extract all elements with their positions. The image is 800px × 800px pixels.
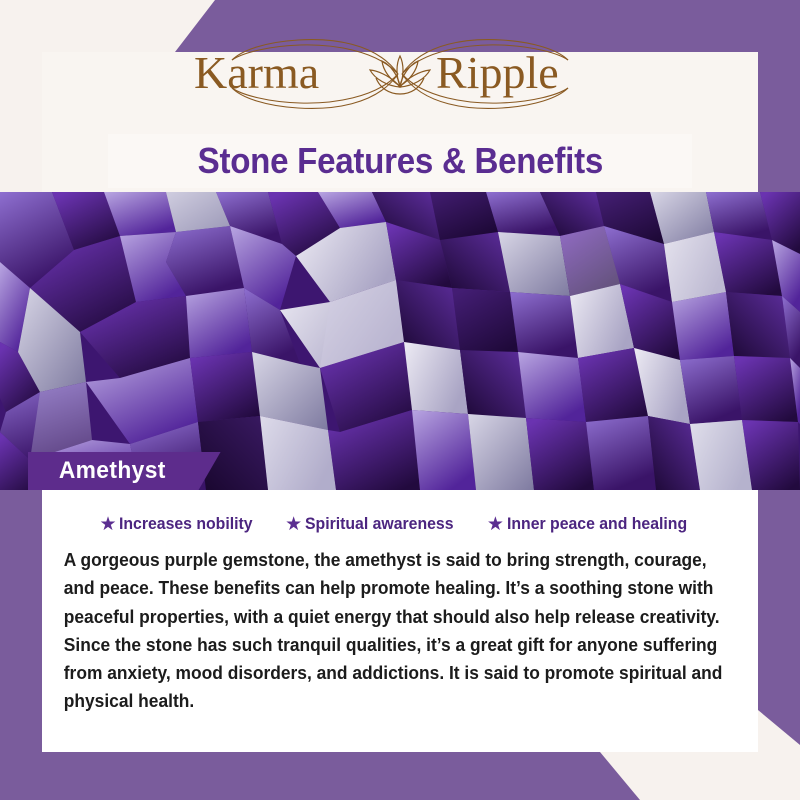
benefit-item: ★ Inner peace and healing [487,514,701,534]
stone-name-tag: Amethyst [28,452,221,490]
frame-bottom-band [0,752,800,800]
star-icon: ★ [487,515,504,534]
brand-logo: Karma Ripple [0,26,800,122]
logo-artwork: Karma Ripple [180,26,620,122]
gemstone-photo-art [0,192,800,490]
page-title: Stone Features & Benefits [197,140,602,182]
star-icon: ★ [285,515,302,534]
benefit-item: ★ Increases nobility [99,514,263,534]
benefits-list: ★ Increases nobility ★ Spiritual awarene… [60,514,740,534]
brand-name-right: Ripple [436,47,559,98]
gemstone-photo [0,192,800,490]
benefit-label: Spiritual awareness [305,514,454,534]
stone-name-label: Amethyst [59,457,166,485]
infographic-canvas: Karma Ripple Stone Features & Benefits [0,0,800,800]
stone-description: A gorgeous purple gemstone, the amethyst… [60,546,745,716]
star-icon: ★ [99,515,116,534]
benefit-item: ★ Spiritual awareness [285,514,465,534]
benefit-label: Increases nobility [119,514,253,534]
benefit-label: Inner peace and healing [507,514,687,534]
brand-name-left: Karma [194,47,319,98]
content-panel: ★ Increases nobility ★ Spiritual awarene… [42,490,758,752]
title-banner: Stone Features & Benefits [108,134,692,188]
